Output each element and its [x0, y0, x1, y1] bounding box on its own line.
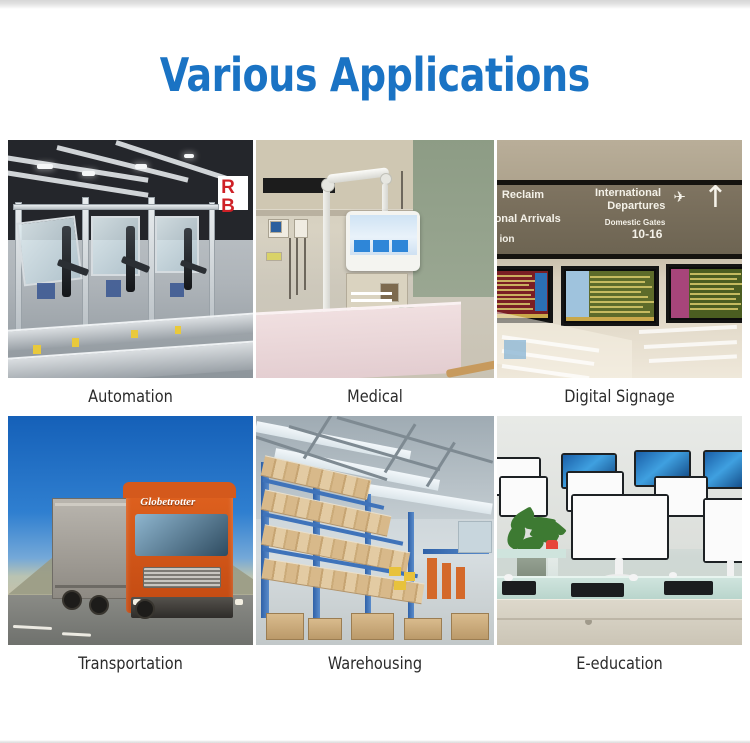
- caption-digital-signage: Digital Signage: [503, 378, 736, 416]
- education-scene: [497, 416, 742, 645]
- application-card-warehousing[interactable]: Warehousing: [256, 416, 494, 683]
- application-card-transportation[interactable]: Globetrotter Transportation: [8, 416, 253, 683]
- sign-text-domestic-gates: Domestic Gates: [605, 219, 665, 227]
- sign-text-departures: Departures: [607, 201, 665, 213]
- warehousing-thumbnail[interactable]: [256, 416, 494, 645]
- caption-warehousing: Warehousing: [262, 645, 488, 683]
- sign-text-arrivals: onal Arrivals: [497, 214, 561, 226]
- digital-signage-scene: Reclaim onal Arrivals ion International …: [497, 140, 742, 378]
- digital-signage-thumbnail[interactable]: Reclaim onal Arrivals ion International …: [497, 140, 742, 378]
- application-card-medical[interactable]: 37 Medical: [256, 140, 494, 416]
- fids-screen-right[interactable]: [666, 264, 742, 324]
- caption-medical: Medical: [262, 378, 488, 416]
- caption-education: E-education: [503, 645, 736, 683]
- page-title: Various Applications: [160, 52, 590, 98]
- plane-icon: ✈: [673, 190, 686, 205]
- application-card-education[interactable]: E-education: [497, 416, 742, 683]
- automation-scene: RB: [8, 140, 253, 378]
- sign-text-ion: ion: [499, 235, 514, 246]
- sign-text-international: International: [595, 188, 661, 200]
- caption-automation: Automation: [14, 378, 247, 416]
- applications-row-1: RB: [8, 140, 742, 416]
- applications-grid: RB: [8, 140, 742, 683]
- transportation-thumbnail[interactable]: Globetrotter: [8, 416, 253, 645]
- application-card-automation[interactable]: RB: [8, 140, 253, 416]
- transportation-scene: Globetrotter: [8, 416, 253, 645]
- top-border: [0, 0, 750, 9]
- application-showcase-page: Various Applications: [0, 0, 750, 743]
- application-card-digital-signage[interactable]: Reclaim onal Arrivals ion International …: [497, 140, 742, 416]
- sign-text-gate-range: 10-16: [632, 228, 663, 241]
- warehousing-scene: [256, 416, 494, 645]
- fids-screen-center[interactable]: [561, 266, 659, 326]
- medical-thumbnail[interactable]: 37: [256, 140, 494, 378]
- caption-transportation: Transportation: [14, 645, 247, 683]
- sign-text-reclaim: Reclaim: [502, 190, 544, 202]
- arrow-up-icon: ↑: [703, 183, 728, 213]
- medical-scene: 37: [256, 140, 494, 378]
- truck-brand-label: Globetrotter: [140, 496, 195, 508]
- page-title-container: Various Applications: [0, 36, 750, 114]
- applications-row-2: Globetrotter Transportation: [8, 416, 742, 683]
- automation-thumbnail[interactable]: RB: [8, 140, 253, 378]
- education-thumbnail[interactable]: [497, 416, 742, 645]
